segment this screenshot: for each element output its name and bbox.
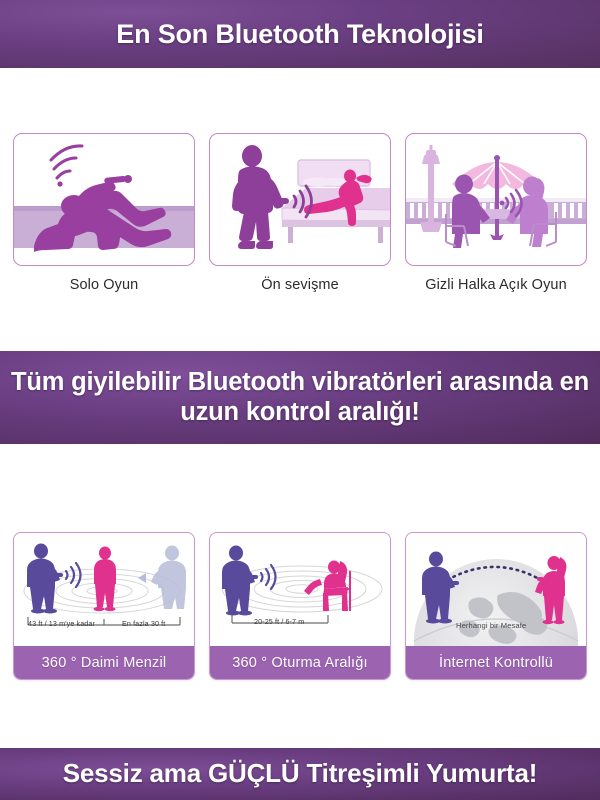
range-note-seated-1: 20-25 ft / 6-7 m bbox=[254, 617, 304, 626]
standing-figure-remote-bed-icon bbox=[210, 134, 391, 266]
range-cards-row: 43 ft / 13 m'ye kadar En fazla 30 ft 360… bbox=[0, 532, 600, 680]
standing-range-rings-icon bbox=[14, 533, 194, 646]
bottom-banner-text: Sessiz ama GÜÇLÜ Titreşimli Yumurta! bbox=[57, 759, 543, 789]
range-art-internet: Herhangi bir Mesafe bbox=[406, 533, 586, 646]
range-label-standing: 360 ° Daimi Menzil bbox=[14, 646, 194, 679]
range-art-standing: 43 ft / 13 m'ye kadar En fazla 30 ft bbox=[14, 533, 194, 646]
range-label-seated: 360 ° Oturma Aralığı bbox=[210, 646, 390, 679]
scene-card-public[interactable]: Gizli Halka Açık Oyun bbox=[405, 133, 587, 308]
scene-frame-foreplay bbox=[209, 133, 391, 266]
top-banner-text: En Son Bluetooth Teknolojisi bbox=[110, 19, 489, 50]
scene-caption-solo: Solo Oyun bbox=[13, 277, 195, 293]
range-note-standing-1: 43 ft / 13 m'ye kadar bbox=[28, 619, 95, 628]
cafe-umbrella-couple-icon bbox=[406, 134, 587, 266]
scene-card-solo[interactable]: Solo Oyun bbox=[13, 133, 195, 308]
scene-frame-public bbox=[405, 133, 587, 266]
range-note-internet-1: Herhangi bir Mesafe bbox=[456, 621, 526, 630]
range-note-standing-2: En fazla 30 ft bbox=[122, 619, 165, 628]
scene-card-foreplay[interactable]: Ön sevişme bbox=[209, 133, 391, 308]
middle-banner-text: Tüm giyilebilir Bluetooth vibratörleri a… bbox=[0, 368, 600, 426]
scene-caption-foreplay: Ön sevişme bbox=[209, 277, 391, 293]
scene-caption-public: Gizli Halka Açık Oyun bbox=[405, 277, 587, 293]
range-label-internet: İnternet Kontrollü bbox=[406, 646, 586, 679]
middle-banner: Tüm giyilebilir Bluetooth vibratörleri a… bbox=[0, 351, 600, 444]
scene-frame-solo bbox=[13, 133, 195, 266]
range-card-standing[interactable]: 43 ft / 13 m'ye kadar En fazla 30 ft 360… bbox=[13, 532, 195, 680]
seated-range-rings-icon bbox=[210, 533, 390, 646]
reclining-figure-with-signal-icon bbox=[14, 134, 195, 266]
range-card-internet[interactable]: Herhangi bir Mesafe İnternet Kontrollü bbox=[405, 532, 587, 680]
scene-cards-row: Solo Oyun bbox=[0, 133, 600, 308]
promo-page: En Son Bluetooth Teknolojisi bbox=[0, 0, 600, 800]
range-art-seated: 20-25 ft / 6-7 m bbox=[210, 533, 390, 646]
bottom-banner: Sessiz ama GÜÇLÜ Titreşimli Yumurta! bbox=[0, 748, 600, 800]
top-banner: En Son Bluetooth Teknolojisi bbox=[0, 0, 600, 68]
range-card-seated[interactable]: 20-25 ft / 6-7 m 360 ° Oturma Aralığı bbox=[209, 532, 391, 680]
